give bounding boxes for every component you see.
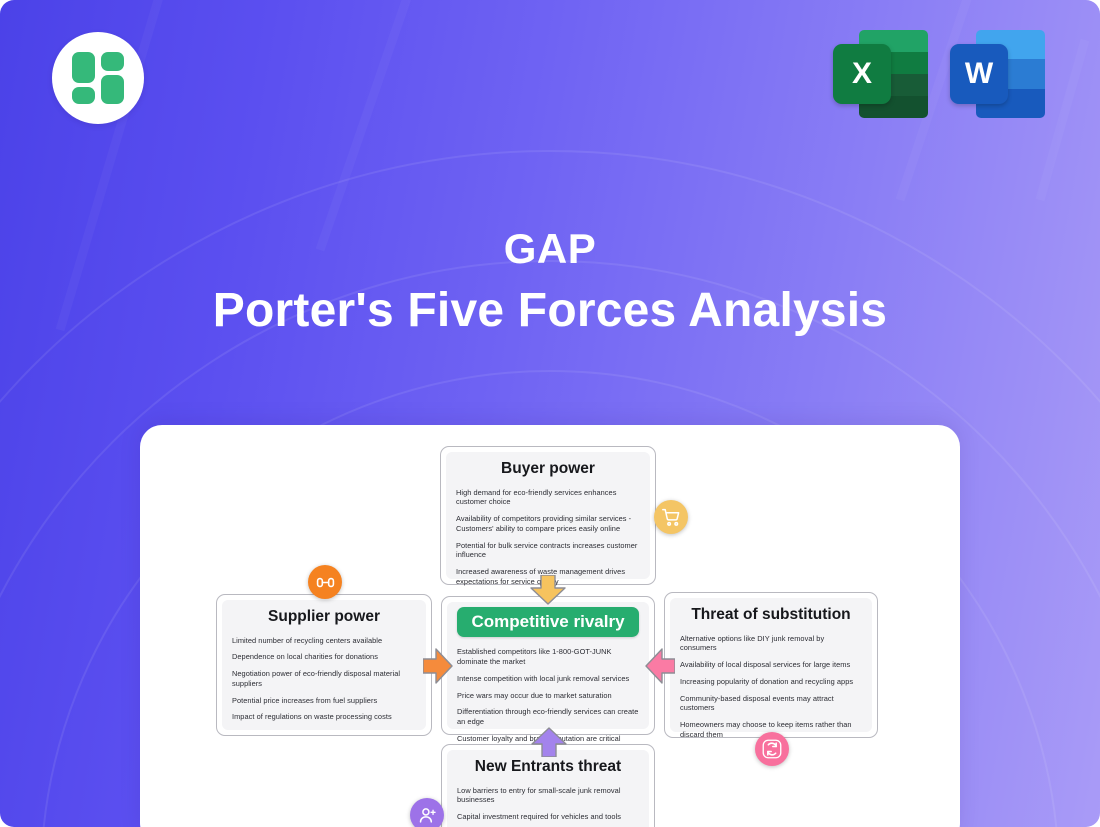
company-name: GAP	[0, 225, 1100, 273]
box-title: New Entrants threat	[457, 758, 639, 777]
list-item: Limited number of recycling centers avai…	[232, 636, 416, 646]
badge-buyer-power[interactable]	[654, 500, 688, 534]
box-title: Threat of substitution	[680, 606, 862, 625]
list-item: Alternative options like DIY junk remova…	[680, 634, 862, 654]
user-plus-icon	[418, 806, 437, 825]
list-item: Low barriers to entry for small-scale ju…	[457, 786, 639, 806]
shopping-cart-icon	[662, 508, 681, 527]
box-title: Competitive rivalry	[457, 607, 639, 637]
force-box-buyer-power[interactable]: Buyer power High demand for eco-friendly…	[440, 446, 656, 585]
list-item: Intense competition with local junk remo…	[457, 674, 639, 684]
list-item: Impact of regulations on waste processin…	[232, 712, 416, 722]
list-item: Capital investment required for vehicles…	[457, 812, 639, 822]
brand-logo	[52, 32, 144, 124]
page-title: GAP Porter's Five Forces Analysis	[0, 225, 1100, 338]
list-item: Availability of local disposal services …	[680, 660, 862, 670]
microsoft-excel-icon: X	[833, 30, 928, 118]
box-points: Alternative options like DIY junk remova…	[680, 634, 862, 740]
list-item: Dependence on local charities for donati…	[232, 652, 416, 662]
box-title: Buyer power	[456, 460, 640, 479]
list-item: High demand for eco-friendly services en…	[456, 488, 640, 508]
list-item: Differentiation through eco-friendly ser…	[457, 707, 639, 727]
word-badge-letter: W	[950, 44, 1008, 104]
slide-canvas: X W GAP Porter's Five Forces Analysis Bu…	[0, 0, 1100, 827]
force-box-supplier-power[interactable]: Supplier power Limited number of recycli…	[216, 594, 432, 736]
analysis-subtitle: Porter's Five Forces Analysis	[0, 283, 1100, 338]
force-box-competitive-rivalry[interactable]: Competitive rivalry Established competit…	[441, 596, 655, 735]
microsoft-word-icon: W	[950, 30, 1045, 118]
list-item: Potential price increases from fuel supp…	[232, 696, 416, 706]
box-title: Supplier power	[232, 608, 416, 627]
force-box-threat-of-substitution[interactable]: Threat of substitution Alternative optio…	[664, 592, 878, 738]
excel-badge-letter: X	[833, 44, 891, 104]
list-item: Negotiation power of eco-friendly dispos…	[232, 669, 416, 689]
list-item: Community-based disposal events may attr…	[680, 694, 862, 714]
box-points: Limited number of recycling centers avai…	[232, 636, 416, 723]
office-app-icons: X W	[833, 30, 1045, 118]
box-points: High demand for eco-friendly services en…	[456, 488, 640, 587]
badge-supplier-power[interactable]	[308, 565, 342, 599]
list-item: Increasing popularity of donation and re…	[680, 677, 862, 687]
box-points: Low barriers to entry for small-scale ju…	[457, 786, 639, 827]
list-item: Potential for bulk service contracts inc…	[456, 541, 640, 561]
link-chain-icon	[316, 573, 335, 592]
list-item: Price wars may occur due to market satur…	[457, 691, 639, 701]
grid-logo-icon	[72, 52, 124, 104]
badge-threat-of-substitution[interactable]	[755, 732, 789, 766]
list-item: Established competitors like 1-800-GOT-J…	[457, 647, 639, 667]
refresh-sync-icon	[762, 739, 782, 759]
list-item: Availability of competitors providing si…	[456, 514, 640, 534]
badge-new-entrants-threat[interactable]	[410, 798, 444, 827]
